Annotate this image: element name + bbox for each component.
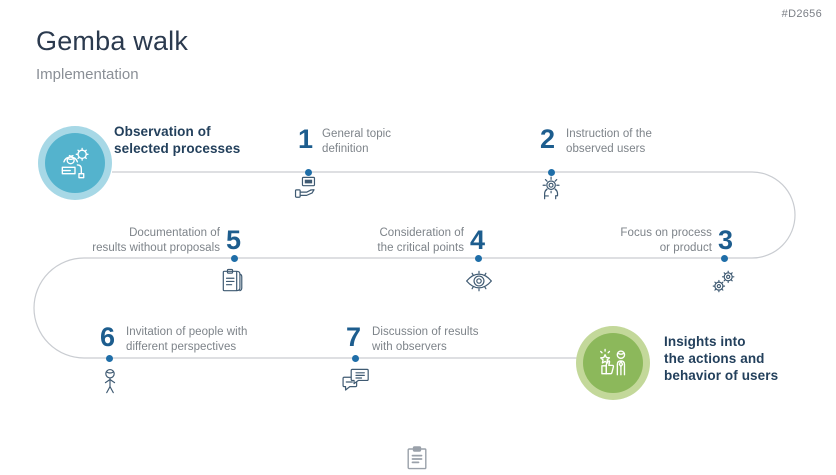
end-node-label: Insights into the actions and behavior o… xyxy=(664,333,778,384)
page-title: Gemba walk xyxy=(36,26,188,57)
step-4-text: Consideration of the critical points xyxy=(377,226,464,257)
person-with-gear-icon xyxy=(56,144,94,182)
end-node-circle xyxy=(583,333,643,393)
step-7-icon-wrap xyxy=(342,368,370,397)
step-2-text-line2: observed users xyxy=(566,142,652,157)
step-5-number: 5 xyxy=(226,227,241,254)
step-1-text-line1: General topic xyxy=(322,127,391,142)
step-6-dot xyxy=(106,355,113,362)
step-5-text-line1: Documentation of xyxy=(92,226,220,241)
gears-icon xyxy=(711,268,737,294)
step-1-dot xyxy=(305,169,312,176)
end-node-label-line3: behavior of users xyxy=(664,367,778,384)
step-4-dot xyxy=(475,255,482,262)
step-5-dot xyxy=(231,255,238,262)
document-notes-icon xyxy=(221,268,245,294)
step-6-text-line1: Invitation of people with xyxy=(126,325,247,340)
end-node[interactable] xyxy=(576,326,650,400)
clipboard-icon xyxy=(406,446,428,470)
presentation-pointer-icon xyxy=(294,176,322,200)
start-node-label: Observation of selected processes xyxy=(114,123,240,157)
step-5-text: Documentation of results without proposa… xyxy=(92,226,220,257)
footer-icon-wrap xyxy=(406,446,428,475)
person-standing-icon xyxy=(100,368,120,394)
step-5-text-line2: results without proposals xyxy=(92,241,220,256)
step-7-text-line2: with observers xyxy=(372,340,479,355)
step-5-icon-wrap xyxy=(221,268,245,299)
thumbs-up-person-icon xyxy=(594,344,632,382)
step-3-text-line1: Focus on process xyxy=(620,226,712,241)
eye-icon xyxy=(465,270,493,292)
slide-id-label: #D2656 xyxy=(782,8,822,20)
step-7-dot xyxy=(352,355,359,362)
chat-bubbles-icon xyxy=(342,368,370,392)
step-2-text-line1: Instruction of the xyxy=(566,127,652,142)
step-6-text-line2: different perspectives xyxy=(126,340,247,355)
end-node-label-line2: the actions and xyxy=(664,350,778,367)
step-7-text-line1: Discussion of results xyxy=(372,325,479,340)
step-2-text: Instruction of the observed users xyxy=(566,127,652,158)
start-node-circle xyxy=(45,133,105,193)
slide-canvas: #D2656 Gemba walk Implementation xyxy=(0,0,836,470)
step-3-icon-wrap xyxy=(711,268,737,299)
step-2-number: 2 xyxy=(540,126,555,153)
step-2-icon-wrap xyxy=(539,176,565,205)
step-4-number: 4 xyxy=(470,227,485,254)
head-brain-idea-icon xyxy=(539,176,565,200)
step-3-number: 3 xyxy=(718,227,733,254)
step-7-text: Discussion of results with observers xyxy=(372,325,479,356)
step-1-text-line2: definition xyxy=(322,142,391,157)
start-node-label-line1: Observation of xyxy=(114,123,240,140)
step-4-icon-wrap xyxy=(465,270,493,297)
start-node[interactable] xyxy=(38,126,112,200)
step-1-text: General topic definition xyxy=(322,127,391,158)
step-6-number: 6 xyxy=(100,324,115,351)
step-2-dot xyxy=(548,169,555,176)
step-1-number: 1 xyxy=(298,126,313,153)
end-node-label-line1: Insights into xyxy=(664,333,778,350)
step-1-icon-wrap xyxy=(294,176,322,205)
start-node-label-line2: selected processes xyxy=(114,140,240,157)
step-6-text: Invitation of people with different pers… xyxy=(126,325,247,356)
step-3-text: Focus on process or product xyxy=(620,226,712,257)
step-4-text-line2: the critical points xyxy=(377,241,464,256)
step-6-icon-wrap xyxy=(100,368,120,399)
step-3-dot xyxy=(721,255,728,262)
page-subtitle: Implementation xyxy=(36,66,139,83)
step-4-text-line1: Consideration of xyxy=(377,226,464,241)
step-3-text-line2: or product xyxy=(620,241,712,256)
step-7-number: 7 xyxy=(346,324,361,351)
